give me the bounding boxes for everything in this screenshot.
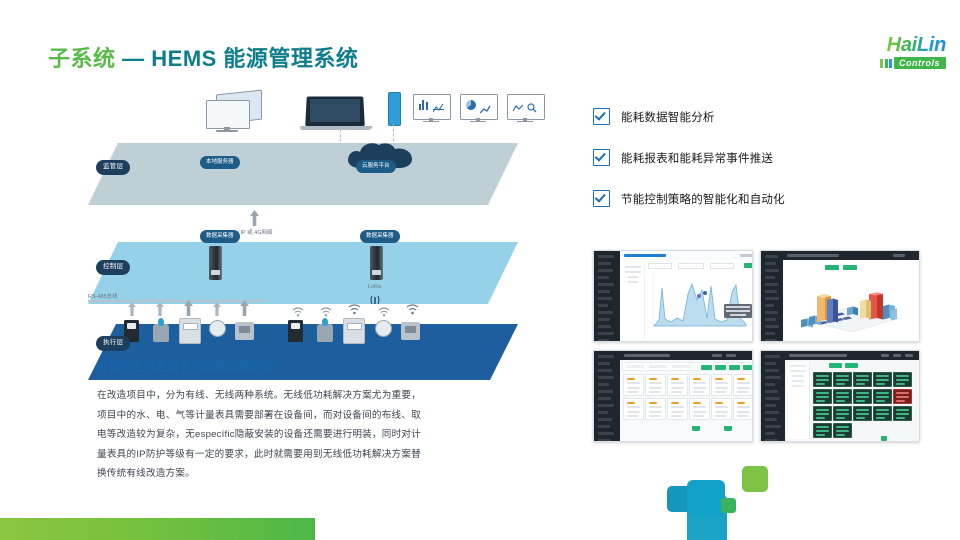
thumbnail-action-button[interactable] [845, 363, 858, 368]
checkbox-checked-icon[interactable] [593, 190, 610, 207]
chart-glyph-line-icon [433, 100, 444, 110]
thumbnail-action-button[interactable] [715, 365, 726, 370]
logo-wordmark: HaiLin [887, 35, 946, 55]
layer-label-supervision: 监管层 [96, 160, 130, 175]
thumbnail-card[interactable] [689, 374, 710, 396]
thumbnail-status-tile[interactable] [873, 406, 892, 421]
thumbnail-card[interactable] [667, 374, 688, 396]
thumbnail-status-tile[interactable] [833, 406, 852, 421]
layer-label-execution: 执行层 [96, 336, 130, 351]
thumbnail-action-button[interactable] [829, 363, 842, 368]
checklist-item-label: 能耗报表和能耗异常事件推送 [621, 150, 773, 166]
thumbnail-status-tile[interactable] [853, 372, 872, 387]
node-cloud-platform: 云服务平台 [356, 160, 396, 173]
thumbnail-card[interactable] [689, 398, 710, 420]
meter-electric-wireless-icon [288, 320, 303, 342]
thumbnail-pagination-button[interactable] [724, 426, 732, 431]
thumbnail-action-button[interactable] [743, 365, 752, 370]
thumbnail-card[interactable] [667, 398, 688, 420]
checkbox-checked-icon[interactable] [593, 108, 610, 125]
thumbnail-card[interactable] [711, 398, 732, 420]
thumbnail-status-tile[interactable] [813, 389, 832, 404]
checklist-item-label: 能耗数据智能分析 [621, 109, 715, 125]
layer-supervision-plane [88, 143, 518, 205]
checkbox-checked-icon[interactable] [593, 149, 610, 166]
thumbnail-card[interactable] [733, 398, 753, 420]
wifi-arc-5-icon [406, 302, 419, 320]
layer-label-control: 控制层 [96, 260, 130, 275]
logo-controls-label: Controls [894, 57, 946, 69]
checklist-item[interactable]: 能耗报表和能耗异常事件推送 [593, 149, 923, 166]
thumbnail-energy-trend[interactable] [593, 250, 753, 342]
chart-glyph-trend-icon [513, 100, 524, 109]
caption-body: 在改造项目中，分为有线、无线两种系统。无线低功耗解决方案尤为重要，项目中的水、电… [97, 386, 421, 484]
meter-water-wired-icon [153, 324, 169, 342]
link-label-lora: LoRa [368, 284, 381, 290]
thumbnail-status-tile[interactable] [833, 372, 852, 387]
thumbnail-sidebar [761, 351, 785, 441]
thumbnail-area-chart [647, 274, 747, 332]
thumbnail-status-tile[interactable] [853, 406, 872, 421]
thumbnail-sidebar [594, 351, 620, 441]
meter-valve-wired-icon [235, 322, 254, 340]
thumbnail-pagination-button[interactable] [881, 436, 887, 441]
server-monitor-front [206, 100, 250, 129]
laptop-screen [310, 99, 360, 122]
data-collector-wired-port [211, 270, 220, 275]
thumbnail-topbar [620, 351, 752, 360]
thumbnail-content [783, 260, 919, 341]
thumbnail-topbar [785, 351, 919, 360]
thumbnail-sidebar [761, 251, 783, 341]
thumbnail-status-tile[interactable] [813, 406, 832, 421]
wifi-arc-1-icon [292, 304, 304, 322]
thumbnail-status-tile[interactable] [893, 372, 912, 387]
node-data-collector-wireless: 数据采集器 [360, 230, 400, 243]
uplink-arrow-icon [250, 210, 259, 226]
thumbnail-pagination-button[interactable] [692, 426, 700, 431]
thumbnail-action-button[interactable] [825, 265, 839, 270]
node-local-server: 本地服务器 [200, 156, 240, 169]
thumbnail-card[interactable] [645, 374, 666, 396]
layer-supervision [88, 143, 518, 205]
meter-water-wireless-icon [317, 324, 333, 342]
thumbnail-card[interactable] [623, 398, 644, 420]
wifi-arc-3-icon [348, 302, 361, 320]
thumbnail-action-button[interactable] [729, 365, 740, 370]
dashboard-monitor-3-base [517, 121, 533, 122]
logo-bars-icon [880, 59, 892, 68]
feature-checklist: 能耗数据智能分析 能耗报表和能耗异常事件推送 节能控制策略的智能化和自动化 [593, 108, 923, 231]
rs485-bus-line [88, 300, 264, 302]
server-monitor-base [216, 130, 238, 132]
thumbnail-action-button[interactable] [843, 265, 857, 270]
meter-valve-wireless-icon [401, 322, 420, 340]
wired-arrow-5-icon [240, 300, 249, 316]
checklist-item[interactable]: 节能控制策略的智能化和自动化 [593, 190, 923, 207]
page-title-secondary: — HEMS 能源管理系统 [122, 46, 358, 71]
node-data-collector-wired: 数据采集器 [200, 230, 240, 243]
thumbnail-bar3d-chart [787, 274, 915, 336]
wired-arrow-3-icon [184, 300, 193, 316]
deco-square-cyan-mid [687, 480, 725, 516]
meter-gauge-wireless-icon [375, 320, 392, 337]
footer-green-bar [0, 518, 315, 540]
chart-glyph-growth-icon [480, 101, 491, 110]
thumbnail-content [620, 360, 752, 441]
smartphone-icon [388, 92, 401, 126]
meter-gas-wired-icon [179, 318, 201, 344]
thumbnail-status-tile[interactable] [873, 389, 892, 404]
architecture-diagram: 监管层 本地服务器 云服务平台 TCP / IP 或 4G网络 控制层 数据采集… [88, 84, 518, 352]
dashboard-screenshots [593, 250, 921, 440]
thumbnail-action-button[interactable] [701, 365, 712, 370]
logo-subline: Controls [880, 57, 946, 69]
thumbnail-topbar [783, 251, 919, 260]
chart-glyph-bars-icon [419, 99, 430, 110]
thumbnail-status-tile-alarm[interactable] [893, 389, 912, 404]
wired-arrow-4-icon [213, 302, 221, 316]
thumbnail-status-tile[interactable] [893, 406, 912, 421]
checklist-item[interactable]: 能耗数据智能分析 [593, 108, 923, 125]
wifi-arc-4-icon [378, 304, 390, 322]
page-title-primary: 子系统 [48, 46, 116, 71]
thumbnail-status-tile[interactable] [833, 389, 852, 404]
layer-control-plane [88, 242, 518, 304]
meter-gauge-wired-icon [209, 320, 226, 337]
data-collector-wireless-port [372, 270, 381, 275]
thumbnail-device-status-panel[interactable] [760, 350, 920, 442]
thumbnail-card[interactable] [711, 374, 732, 396]
layer-control [88, 242, 518, 304]
thumbnail-content [620, 260, 752, 341]
thumbnail-card[interactable] [623, 374, 644, 396]
checklist-item-label: 节能控制策略的智能化和自动化 [621, 191, 785, 207]
thumbnail-status-tile[interactable] [833, 423, 852, 438]
thumbnail-content [785, 360, 919, 441]
meter-gas-wireless-icon [343, 318, 365, 344]
dashboard-monitor-1-base [423, 121, 439, 122]
chart-glyph-pie-icon [466, 100, 476, 110]
deco-square-green-small [721, 498, 736, 513]
thumbnail-sector-energy-3d[interactable] [760, 250, 920, 342]
thumbnail-status-tile[interactable] [853, 389, 872, 404]
caption-title: 有线和无线相结合的能耗监测系统 [97, 358, 274, 374]
thumbnail-status-tile[interactable] [813, 423, 832, 438]
hailin-logo: HaiLin Controls [834, 32, 946, 72]
wired-arrow-2-icon [156, 302, 164, 316]
dashboard-monitor-2-base [470, 121, 486, 122]
thumbnail-device-card-list[interactable] [593, 350, 753, 442]
magnifier-icon [527, 100, 537, 110]
wifi-arc-2-icon [320, 304, 332, 322]
thumbnail-status-tile[interactable] [813, 372, 832, 387]
deco-square-green-large [742, 466, 768, 492]
thumbnail-sidebar [594, 251, 620, 341]
thumbnail-status-tile[interactable] [873, 372, 892, 387]
wired-arrow-1-icon [128, 302, 136, 316]
lora-antenna-icon [370, 292, 380, 302]
thumbnail-card[interactable] [645, 398, 666, 420]
thumbnail-card[interactable] [733, 374, 753, 396]
laptop-base [299, 126, 372, 130]
page-title: 子系统 — HEMS 能源管理系统 [48, 41, 358, 73]
link-label-rs485: RS-485总线 [88, 292, 118, 300]
